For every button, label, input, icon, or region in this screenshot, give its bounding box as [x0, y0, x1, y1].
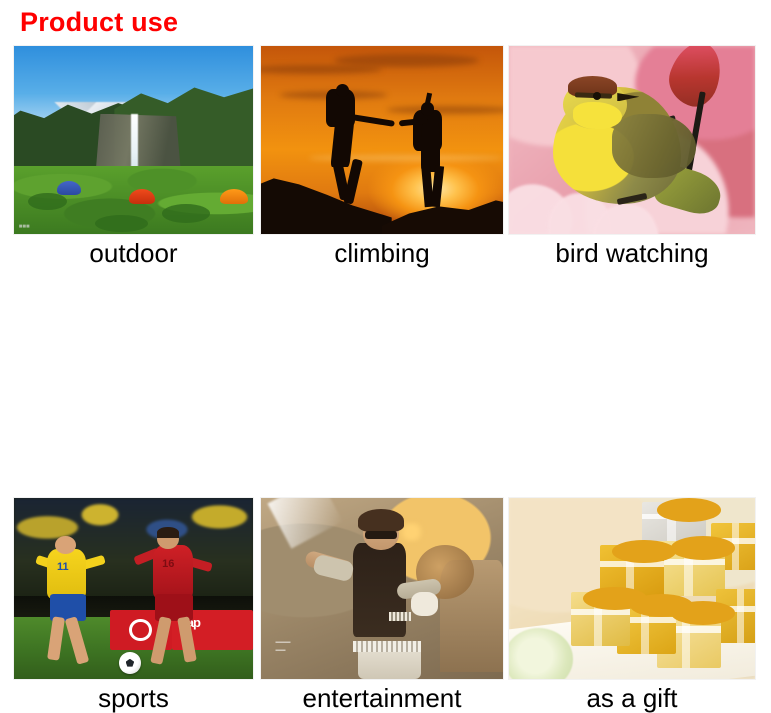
yellow-player-head [55, 536, 77, 554]
entertainment-photo[interactable]: ▬▬▬▬▬ [261, 498, 503, 679]
tent-red [129, 189, 155, 204]
performer-glove [411, 592, 438, 616]
shrub [28, 193, 66, 210]
watermark: ▬▬▬▬▬ [276, 638, 291, 654]
caption-climbing: climbing [261, 238, 503, 268]
caption-outdoor: outdoor [14, 238, 253, 268]
ribbon-bow [671, 601, 735, 625]
gallery-cell-as-a-gift[interactable]: as a gift [509, 498, 755, 679]
yellow-player-number: 11 [57, 561, 69, 573]
gallery-cell-entertainment[interactable]: ▬▬▬▬▬ entertainment [261, 498, 503, 679]
gallery-cell-climbing[interactable]: climbing [261, 46, 503, 234]
bird-throat [573, 102, 622, 128]
bird-watching-photo[interactable] [509, 46, 755, 234]
gallery-cell-sports[interactable]: 11 16 sports [14, 498, 253, 679]
sports-photo[interactable]: 11 16 [14, 498, 253, 679]
watermark: ■■■ [19, 224, 30, 230]
red-player-shirt [153, 545, 194, 599]
climber-one-head [336, 84, 349, 97]
caption-as-a-gift: as a gift [509, 683, 755, 713]
caption-sports: sports [14, 683, 253, 713]
page-title: Product use [20, 6, 178, 38]
shrub [162, 204, 210, 223]
climber-two-body [421, 116, 440, 172]
ribbon-bow [657, 498, 721, 522]
yellow-player-shirt [47, 549, 85, 600]
performer-hair [358, 509, 404, 533]
climbing-photo[interactable] [261, 46, 503, 234]
performer-belt [353, 641, 421, 652]
ribbon-bow [671, 536, 735, 560]
caption-entertainment: entertainment [261, 683, 503, 713]
tent-orange [220, 189, 249, 204]
tent-blue [57, 181, 81, 194]
shrub [95, 215, 148, 232]
bird-eye [593, 92, 601, 100]
red-player-hair [157, 527, 179, 538]
gallery-cell-outdoor[interactable]: ■■■ outdoor [14, 46, 253, 234]
cloud-streak [387, 106, 503, 114]
sunglasses-icon [365, 531, 396, 539]
soccer-ball [119, 652, 141, 674]
gift-photo[interactable] [509, 498, 755, 679]
cloud-streak [334, 54, 479, 67]
performer-wristband [389, 612, 411, 621]
gallery-cell-bird-watching[interactable]: bird watching [509, 46, 755, 234]
red-player-number: 16 [162, 558, 174, 570]
ribbon-bow [612, 540, 676, 564]
outdoor-photo[interactable]: ■■■ [14, 46, 253, 234]
bird-wing [612, 114, 696, 178]
caption-bird-watching: bird watching [509, 238, 755, 268]
